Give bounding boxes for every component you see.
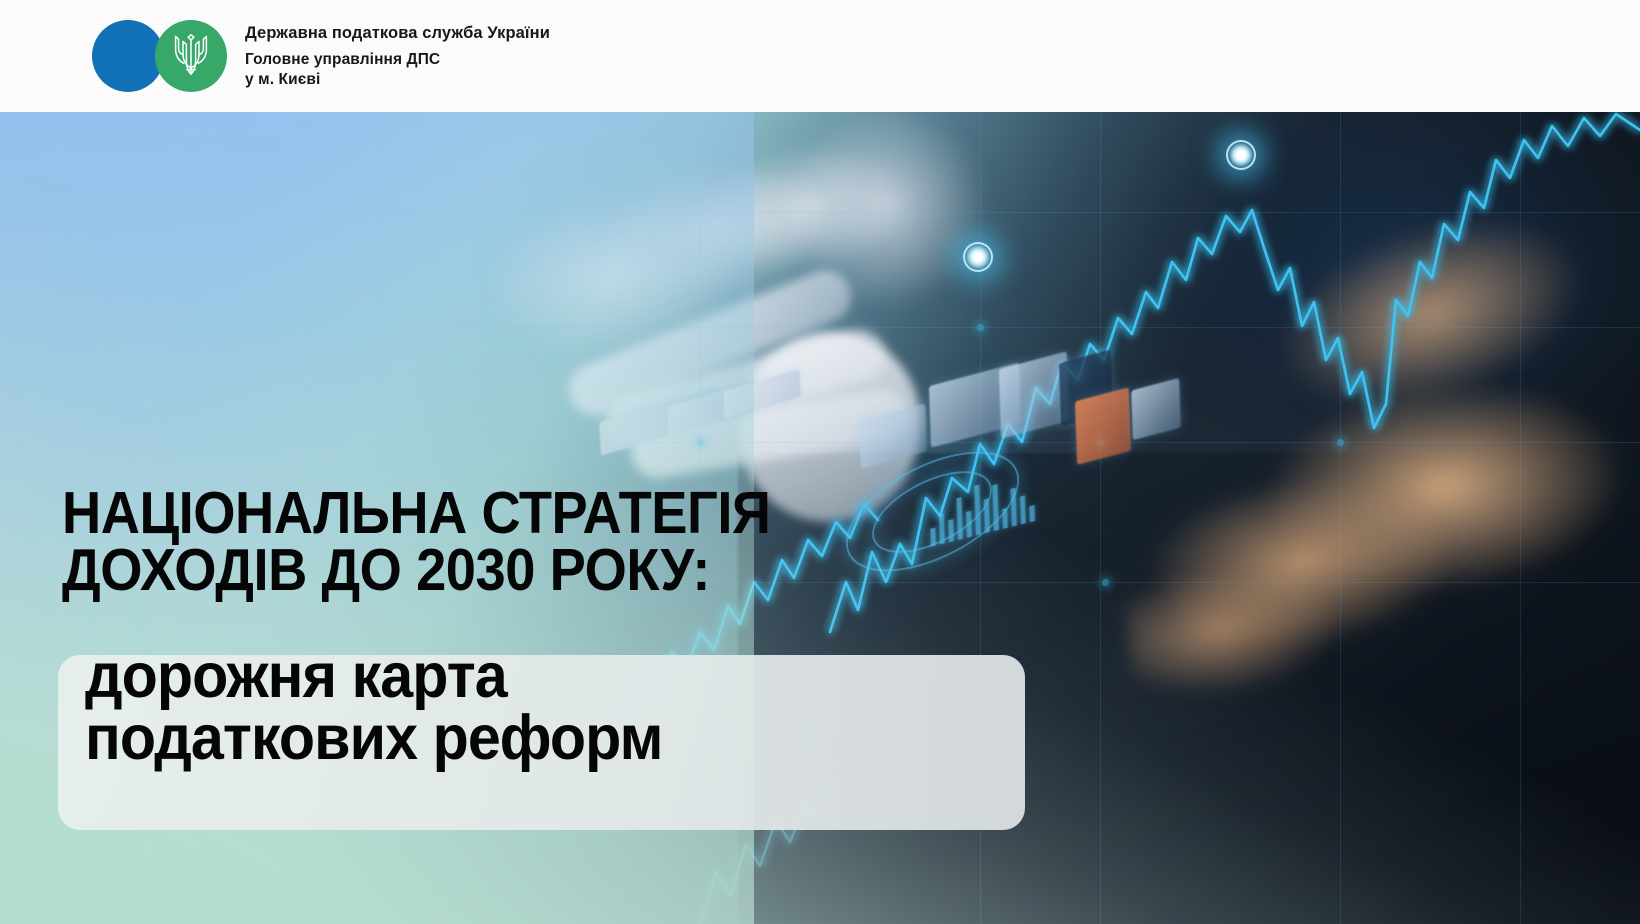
hero-subtitle-block: дорожня карта податкових реформ [85, 645, 662, 770]
hero-banner: НАЦІОНАЛЬНА СТРАТЕГІЯ ДОХОДІВ ДО 2030 РО… [0, 112, 1640, 924]
chart-glow-node-1 [1226, 140, 1256, 170]
site-header: Державна податкова служба України Головн… [0, 0, 1640, 112]
org-name-department: Головне управління ДПС [245, 50, 550, 70]
org-name-city: у м. Києві [245, 70, 550, 90]
headline-line-1: НАЦІОНАЛЬНА СТРАТЕГІЯ [62, 485, 771, 542]
headline-line-2: ДОХОДІВ ДО 2030 РОКУ: [62, 542, 771, 599]
ukraine-trident-icon [155, 20, 227, 92]
subtitle-line-1: дорожня карта [85, 645, 662, 707]
subtitle-line-2: податкових реформ [85, 707, 662, 769]
dps-logo[interactable] [92, 20, 227, 92]
header-org-text: Державна податкова служба України Головн… [245, 23, 550, 90]
logo-blue-circle [92, 20, 164, 92]
hero-headline-block: НАЦІОНАЛЬНА СТРАТЕГІЯ ДОХОДІВ ДО 2030 РО… [62, 485, 832, 598]
org-name-primary: Державна податкова служба України [245, 23, 550, 44]
poster-page: Державна податкова служба України Головн… [0, 0, 1640, 924]
chart-glow-node-2 [963, 242, 993, 272]
